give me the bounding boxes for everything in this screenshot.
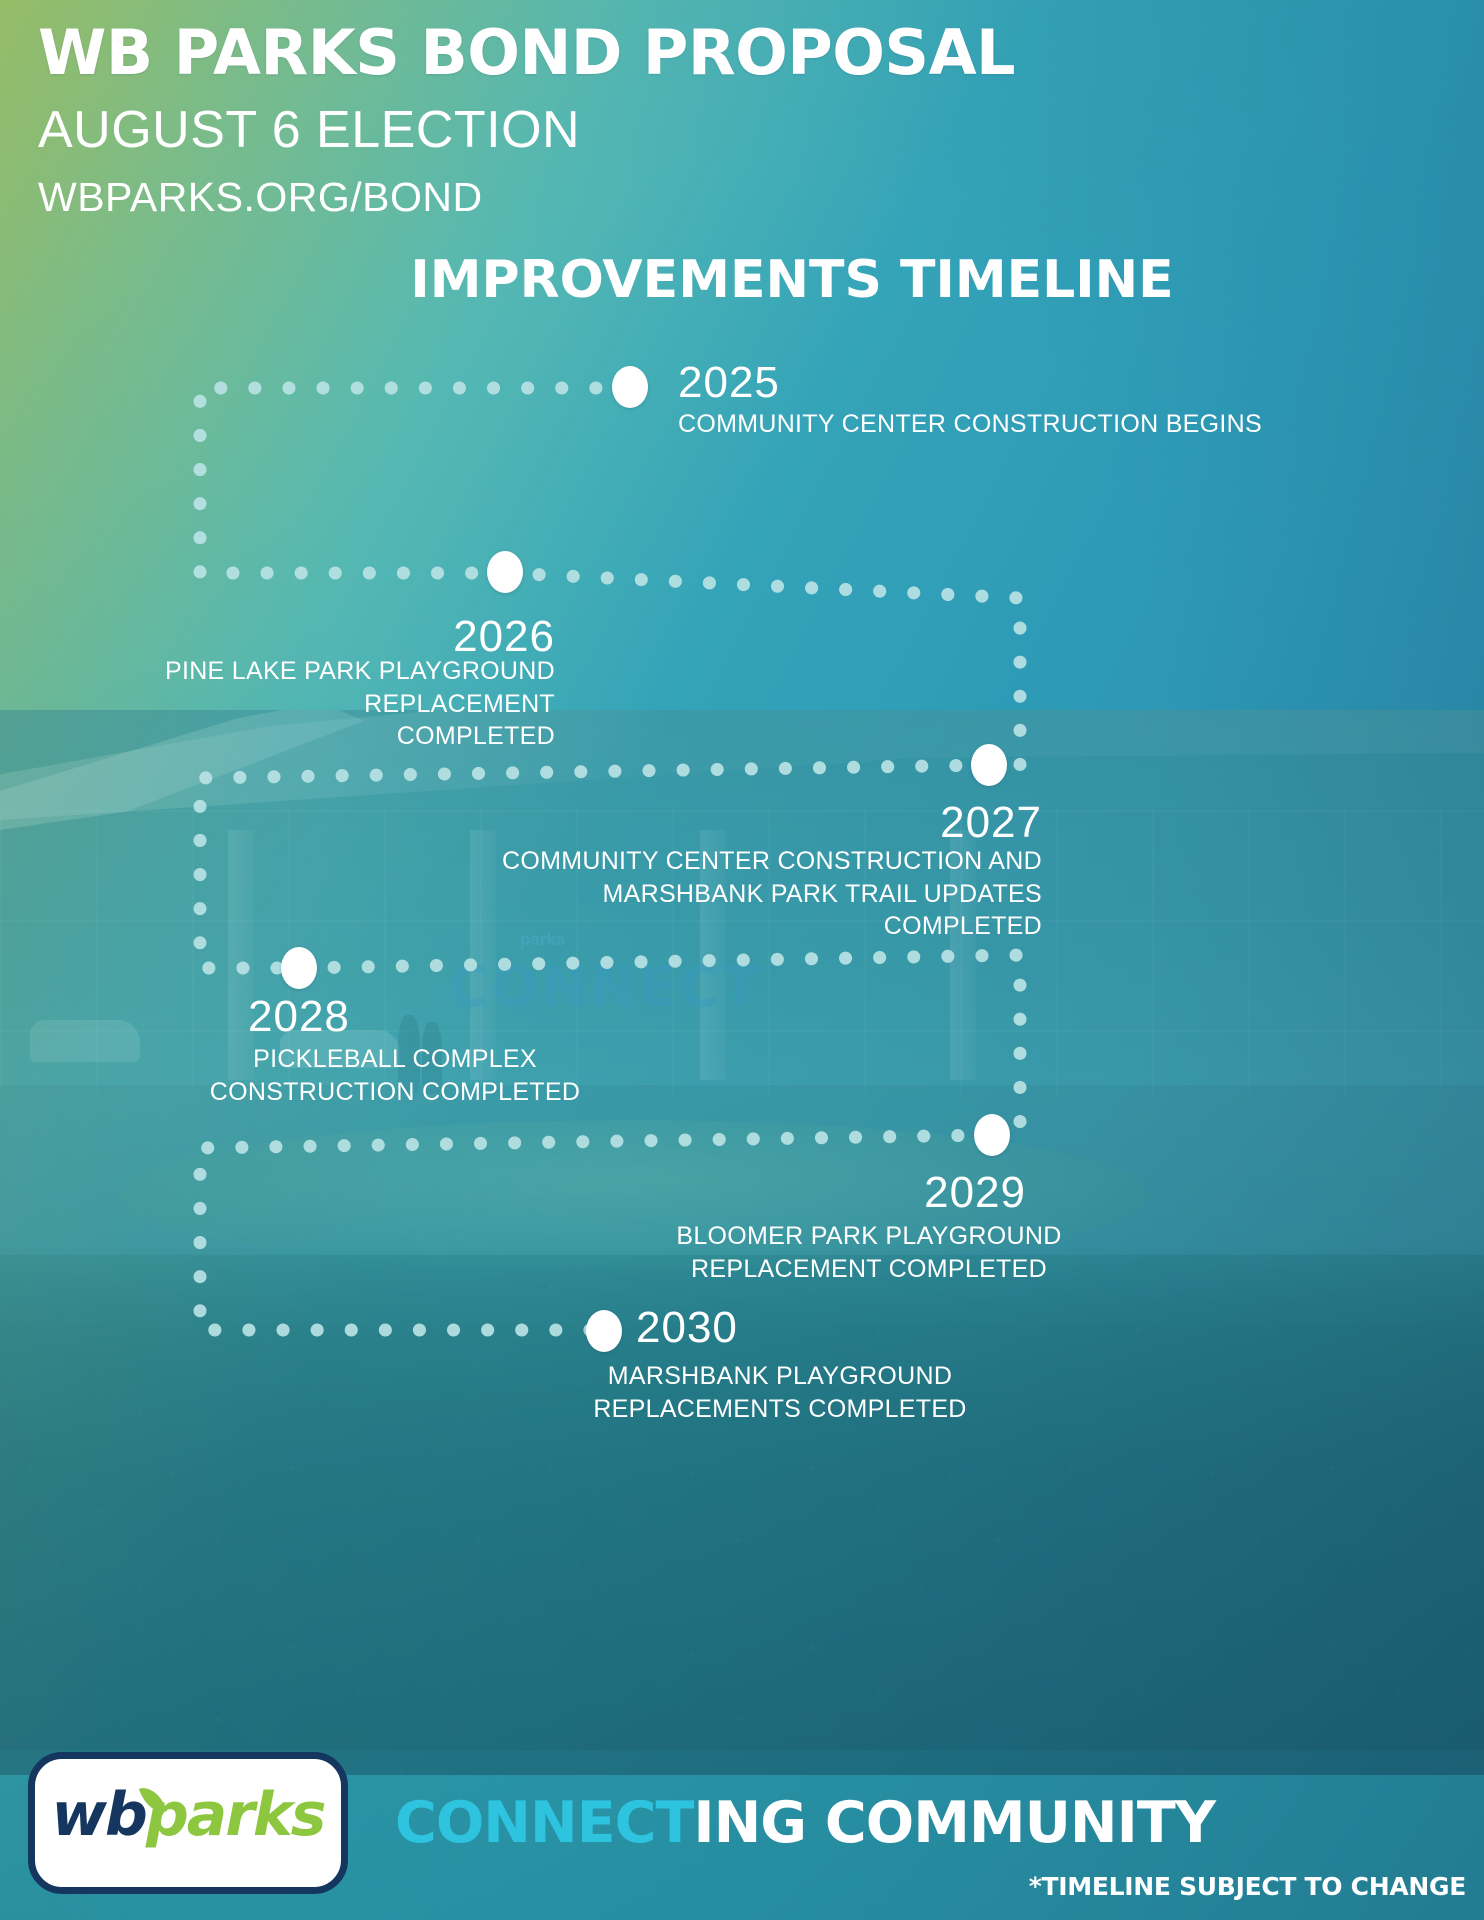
milestone-node-2028 <box>281 947 317 989</box>
milestone-year-2028: 2028 <box>248 992 350 1042</box>
footnote-disclaimer: *TIMELINE SUBJECT TO CHANGE <box>1029 1872 1466 1901</box>
milestone-node-2027 <box>971 744 1007 786</box>
milestone-node-2025 <box>612 366 648 408</box>
milestone-node-2030 <box>586 1310 622 1352</box>
milestone-node-2026 <box>487 551 523 593</box>
logo-wordmark: wbparks <box>35 1785 341 1845</box>
milestone-year-2029: 2029 <box>700 1168 1026 1218</box>
poster-canvas: parks CONNECT WB PARKS BOND PROPOSAL AUG… <box>0 0 1484 1920</box>
milestone-desc-2027: COMMUNITY CENTER CONSTRUCTION AND MARSHB… <box>440 845 1042 943</box>
milestone-node-2029 <box>974 1114 1010 1156</box>
milestone-year-2030: 2030 <box>636 1303 738 1353</box>
tagline-highlight: CONNECT <box>395 1790 693 1856</box>
milestone-year-2025: 2025 <box>678 358 780 408</box>
logo-parks-text: parks <box>146 1780 325 1850</box>
wb-parks-logo[interactable]: wbparks <box>28 1752 348 1894</box>
milestone-desc-2025: COMMUNITY CENTER CONSTRUCTION BEGINS <box>678 408 1298 441</box>
milestone-desc-2028: PICKLEBALL COMPLEX CONSTRUCTION COMPLETE… <box>170 1043 620 1108</box>
tagline: CONNECTING COMMUNITY <box>395 1790 1215 1856</box>
milestone-desc-2030: MARSHBANK PLAYGROUND REPLACEMENTS COMPLE… <box>555 1360 1005 1425</box>
logo-wb-text: wb <box>51 1780 145 1850</box>
tagline-rest: ING COMMUNITY <box>693 1790 1215 1856</box>
milestone-desc-2029: BLOOMER PARK PLAYGROUND REPLACEMENT COMP… <box>650 1220 1088 1285</box>
milestone-year-2027: 2027 <box>690 798 1042 848</box>
milestone-desc-2026: PINE LAKE PARK PLAYGROUND REPLACEMENT CO… <box>20 655 555 753</box>
timeline-path <box>0 0 1484 1920</box>
